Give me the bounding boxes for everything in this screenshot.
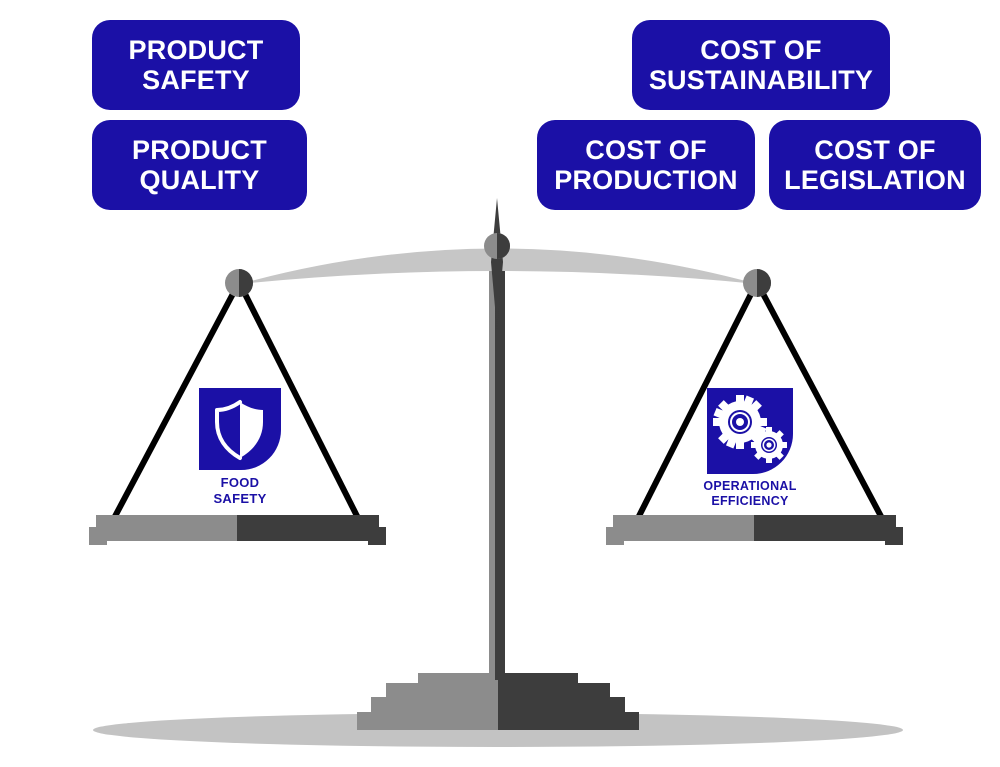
- left-pan-plate-dark: [237, 515, 379, 541]
- gears-icon: [707, 388, 793, 474]
- scale-column-light: [489, 250, 495, 680]
- pill-cost-of-legislation[interactable]: COST OF LEGISLATION: [769, 120, 981, 210]
- left-pan-content: FOOD SAFETY: [140, 388, 340, 506]
- operational-efficiency-caption: OPERATIONAL EFFICIENCY: [650, 479, 850, 509]
- pill-cost-of-sustainability[interactable]: COST OF SUSTAINABILITY: [632, 20, 890, 110]
- left-pan-plate-light: [96, 515, 237, 541]
- right-pan-content: OPERATIONAL EFFICIENCY: [650, 388, 850, 509]
- balance-scale-graphic: [0, 0, 1000, 767]
- left-end-knob-dark: [239, 269, 253, 297]
- food-safety-caption: FOOD SAFETY: [140, 475, 340, 506]
- pill-product-safety[interactable]: PRODUCT SAFETY: [92, 20, 300, 110]
- diagram-canvas: PRODUCT SAFETY PRODUCT QUALITY COST OF S…: [0, 0, 1000, 767]
- right-pan-plate-light: [613, 515, 754, 541]
- shield-icon: [199, 388, 281, 470]
- right-pan-plate-dark: [754, 515, 896, 541]
- food-safety-icon-block: [199, 388, 281, 470]
- scale-base-right: [498, 673, 639, 730]
- operational-efficiency-icon-block: [707, 388, 793, 474]
- pill-product-quality[interactable]: PRODUCT QUALITY: [92, 120, 307, 210]
- right-end-knob-dark: [757, 269, 771, 297]
- pill-cost-of-production[interactable]: COST OF PRODUCTION: [537, 120, 755, 210]
- scale-base-left: [357, 673, 498, 730]
